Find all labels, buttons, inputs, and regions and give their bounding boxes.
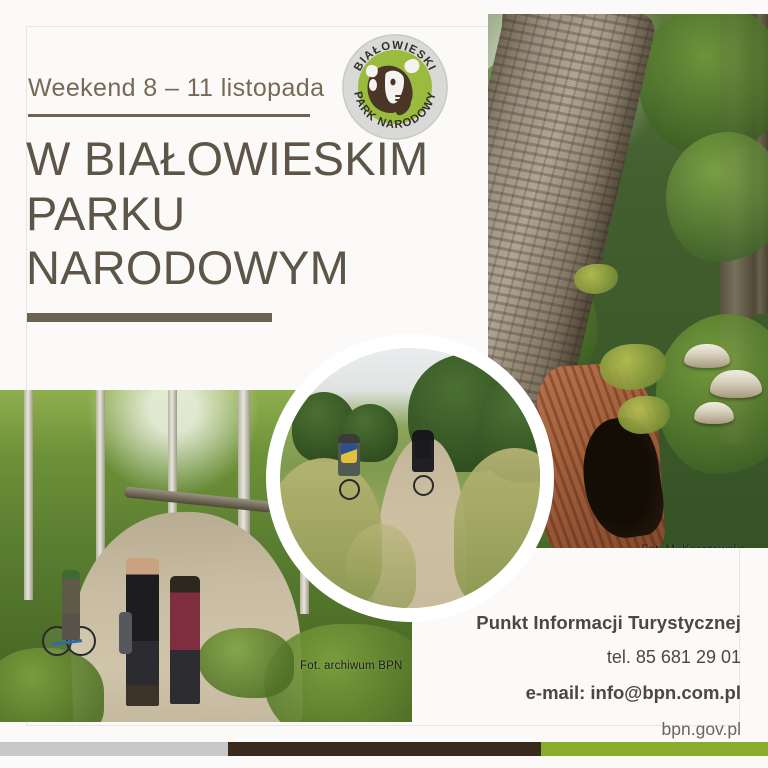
contact-email[interactable]: e-mail: info@bpn.com.pl — [441, 682, 741, 704]
cyclists-scene — [280, 348, 540, 608]
title-underline — [27, 313, 272, 322]
contact-website[interactable]: bpn.gov.pl — [441, 719, 741, 740]
bracket-fungus-icon — [694, 402, 734, 424]
contact-title: Punkt Informacji Turystycznej — [441, 612, 741, 634]
date-underline — [28, 114, 310, 117]
bar-segment-brown — [228, 742, 541, 756]
page-title: W BIAŁOWIESKIM PARKU NARODOWYM — [26, 132, 486, 296]
backpack-icon — [341, 443, 357, 463]
contact-phone[interactable]: tel. 85 681 29 01 — [441, 647, 741, 668]
bar-segment-gray — [0, 742, 228, 756]
photo-credit-tree: Fot. M. Korczewska — [641, 544, 746, 548]
bialowieski-park-narodowy-logo: BIAŁOWIESKI PARK NARODOWY — [341, 33, 449, 141]
bicycle-icon — [339, 474, 359, 500]
date-line: Weekend 8 – 11 listopada — [28, 74, 324, 103]
foliage-icon — [638, 14, 768, 154]
foliage-icon — [666, 132, 768, 262]
bicycle-wheel-icon — [413, 475, 434, 496]
headline-line-3: NARODOWYM — [26, 241, 486, 296]
poster-canvas: Fot. M. Korczewska Fot. archiwum BPN — [0, 0, 768, 768]
photo-cyclists-circle — [266, 334, 554, 622]
birch-trunk-icon — [96, 390, 105, 570]
bar-segment-green — [541, 742, 768, 756]
circle-photo-clip — [280, 348, 540, 608]
bicycle-wheel-icon — [339, 479, 360, 500]
moss-patch-icon — [574, 264, 618, 294]
tall-grass-icon — [454, 448, 540, 608]
headline-line-2: PARKU — [26, 187, 486, 242]
contact-block: Punkt Informacji Turystycznej tel. 85 68… — [441, 612, 741, 740]
backpack-icon — [415, 439, 431, 459]
person-with-camera-icon — [170, 576, 200, 704]
photo-credit-walkers: Fot. archiwum BPN — [300, 660, 402, 672]
person-with-bike-icon — [62, 570, 80, 640]
birch-trunk-icon — [24, 390, 33, 600]
person-looking-up-icon — [126, 558, 159, 706]
tall-grass-icon — [346, 524, 416, 608]
bracket-fungus-icon — [684, 344, 730, 368]
bottom-color-bar — [0, 742, 768, 756]
bicycle-icon — [413, 470, 433, 496]
